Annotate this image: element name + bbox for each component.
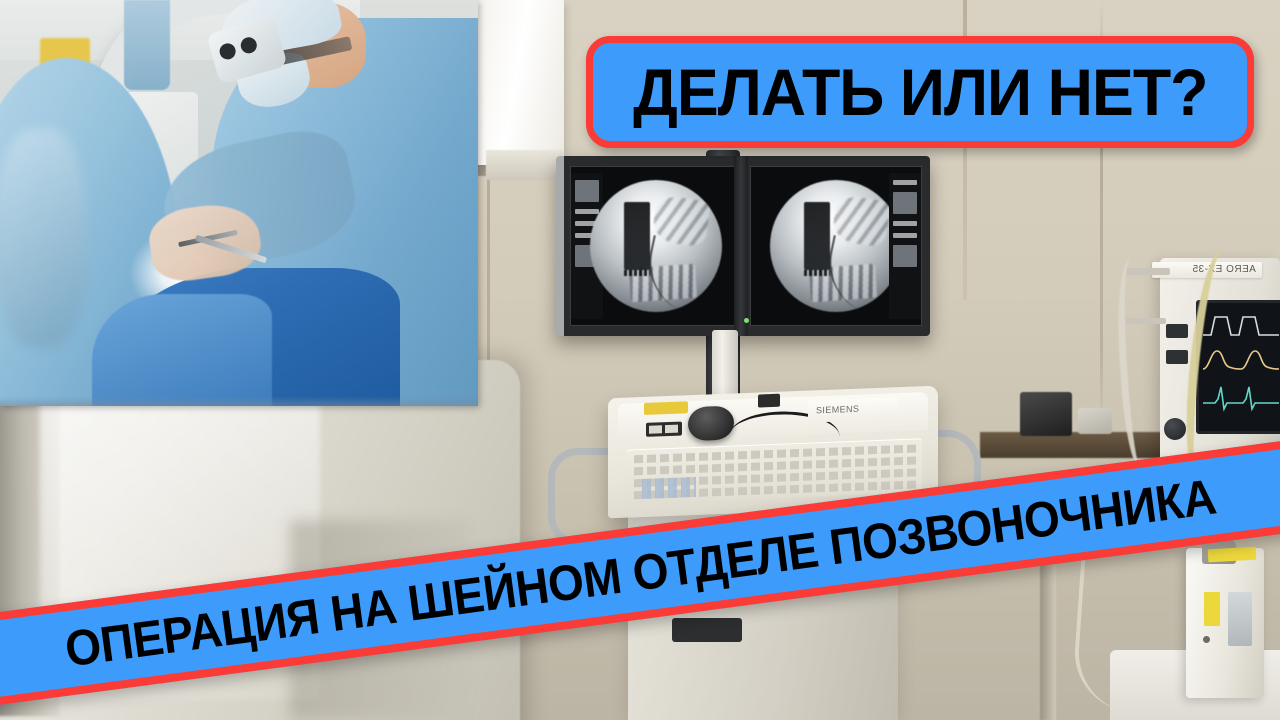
thumbnail-canvas: SIEMENS AERO EX-35: [0, 0, 1280, 720]
c-arm-detector: [124, 0, 170, 90]
monitor-knob: [1164, 418, 1186, 440]
title-text: ДЕЛАТЬ ИЛИ НЕТ?: [633, 59, 1207, 125]
radiopaque-marker: [624, 202, 650, 270]
monitor-screen-right: [750, 166, 922, 326]
wall-cabinet: [478, 0, 564, 165]
pump-window: [1228, 592, 1252, 646]
wall-post: [1040, 560, 1056, 720]
console-brand-text: SIEMENS: [816, 404, 859, 416]
desk-equipment: [1020, 392, 1072, 436]
switch-panel: [646, 421, 682, 436]
monitor-buttons: [1166, 324, 1188, 376]
console-vent: [672, 618, 742, 642]
console-brand-plate: SIEMENS: [808, 397, 898, 422]
infusion-pump: [1186, 548, 1264, 698]
monitor-screen-left: [570, 166, 742, 326]
power-led: [744, 318, 749, 323]
surgery-photo-inset: [0, 0, 478, 406]
yellow-marker-tab: [644, 401, 688, 415]
warning-label: [1204, 592, 1220, 626]
dual-fluoroscopy-monitors: [556, 156, 930, 336]
title-badge: ДЕЛАТЬ ИЛИ НЕТ?: [586, 36, 1254, 148]
monitor-divider: [734, 156, 748, 336]
radiopaque-marker: [804, 202, 830, 270]
surgical-drape: [92, 294, 272, 406]
wall-cabinet-base: [486, 150, 564, 180]
desk-equipment: [1078, 408, 1112, 434]
console-slot: [758, 394, 780, 408]
warning-label: [1208, 547, 1257, 562]
pump-indicator: [1203, 636, 1210, 643]
xray-image: [590, 180, 722, 312]
inset-edge-shadow: [0, 396, 478, 406]
xray-image: [770, 180, 902, 312]
